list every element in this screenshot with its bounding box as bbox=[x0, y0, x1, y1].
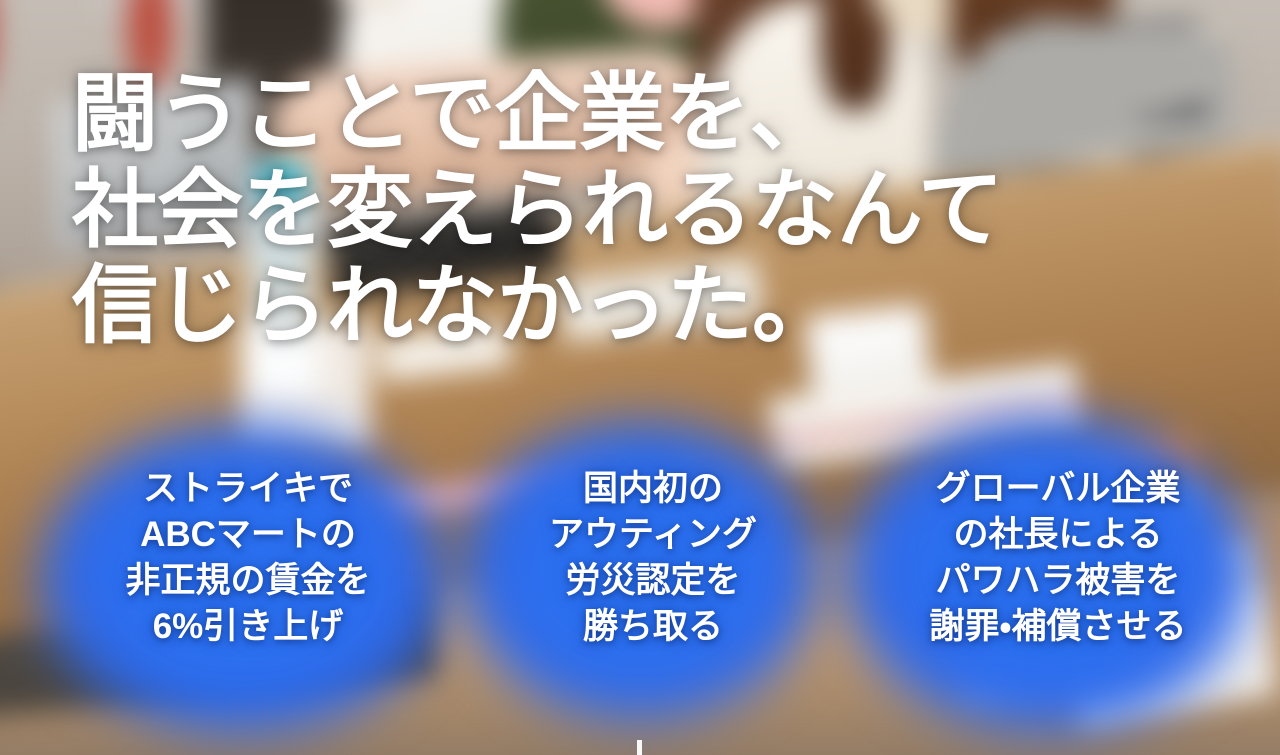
achievement-2-line-2: アウティング bbox=[458, 512, 848, 558]
hero-banner: 闘うことで企業を、 社会を変えられるなんて 信じられなかった。 ストライキで A… bbox=[0, 0, 1280, 755]
achievement-2-line-1: 国内初の bbox=[458, 466, 848, 512]
headline-line-1: 闘うことで企業を、 bbox=[72, 66, 1003, 162]
achievement-1-line-2: ABCマートの bbox=[38, 512, 458, 558]
headline-line-2: 社会を変えられるなんて bbox=[72, 162, 1003, 258]
achievement-3-line-2: の社長による bbox=[848, 512, 1268, 558]
achievement-list: ストライキで ABCマートの 非正規の賃金を 6%引き上げ 国内初の アウティン… bbox=[0, 466, 1280, 650]
achievement-1-line-4: 6%引き上げ bbox=[38, 604, 458, 650]
achievement-item-outing-rousai: 国内初の アウティング 労災認定を 勝ち取る bbox=[458, 466, 848, 650]
headline-line-3: 信じられなかった。 bbox=[72, 258, 1003, 354]
headline: 闘うことで企業を、 社会を変えられるなんて 信じられなかった。 bbox=[72, 66, 1003, 354]
achievement-3-line-1: グローバル企業 bbox=[848, 466, 1268, 512]
achievement-item-power-harassment: グローバル企業 の社長による パワハラ被害を 謝罪・補償させる bbox=[848, 466, 1268, 650]
achievement-1-line-3: 非正規の賃金を bbox=[38, 558, 458, 604]
achievement-item-strike-abc-mart: ストライキで ABCマートの 非正規の賃金を 6%引き上げ bbox=[38, 466, 458, 650]
achievement-2-line-3: 労災認定を bbox=[458, 558, 848, 604]
achievement-2-line-4: 勝ち取る bbox=[458, 604, 848, 650]
achievement-1-line-1: ストライキで bbox=[38, 466, 458, 512]
achievement-3-line-4: 謝罪・補償させる bbox=[848, 604, 1268, 650]
progress-tick[interactable] bbox=[637, 740, 642, 755]
achievement-3-line-3: パワハラ被害を bbox=[848, 558, 1268, 604]
